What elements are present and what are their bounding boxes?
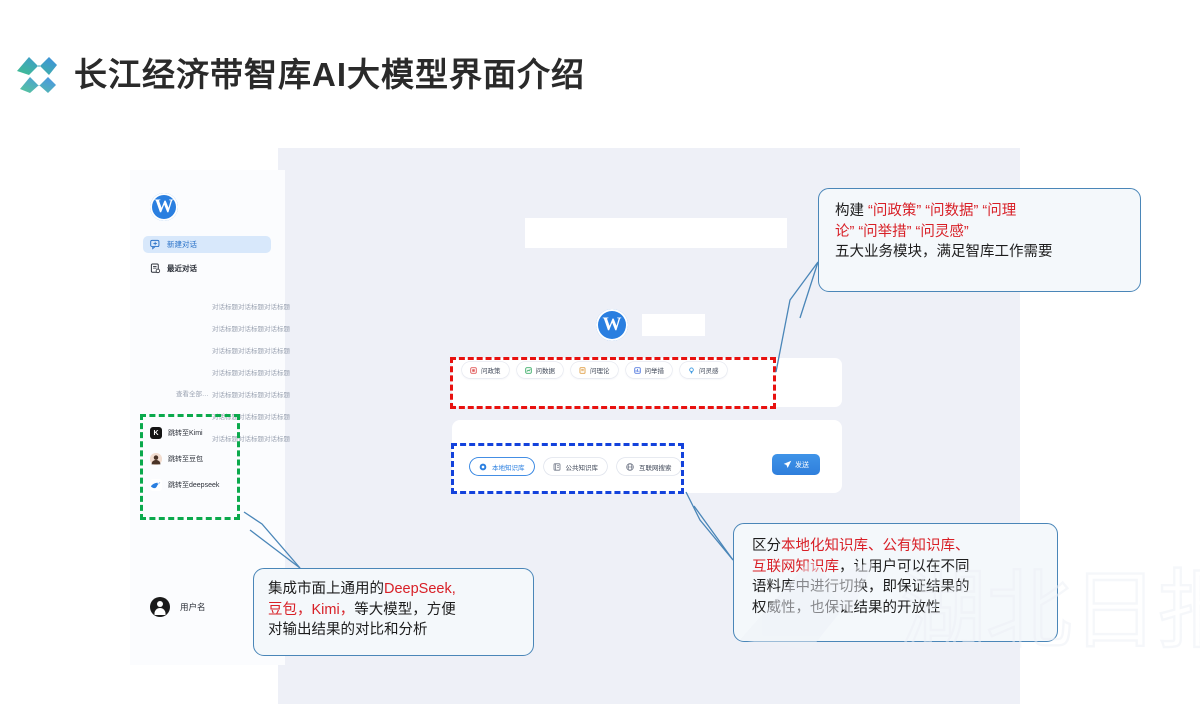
sidebar-item-new-chat[interactable]: 新建对话 (143, 236, 271, 253)
sidebar-logo: W (150, 193, 178, 221)
sidebar-view-all-link[interactable]: 查看全部… (176, 388, 209, 398)
callout-line: 豆包，Kimi，等大模型，方便 (268, 600, 521, 621)
highlight-box-knowledge-chips (451, 443, 684, 494)
sidebar-new-chat-label: 新建对话 (167, 239, 197, 250)
send-button-label: 发送 (795, 460, 809, 470)
slide-header: 长江经济带智库AI大模型界面介绍 (14, 48, 585, 96)
callout-line: 构建 “问政策” “问数据” “问理 (835, 201, 1126, 222)
callout-line: 区分本地化知识库、公有知识库、 (752, 536, 1043, 557)
callout-line: 论” “问举措” “问灵感” (835, 222, 1126, 243)
sidebar-item-recent-chat[interactable]: 最近对话 (143, 260, 271, 277)
callout-line: 互联网知识库，让用户可以在不同 (752, 557, 1043, 578)
new-chat-icon (150, 239, 161, 250)
sidebar-user-profile[interactable]: 用户名 (150, 597, 206, 617)
callout-line: 对输出结果的对比和分析 (268, 620, 521, 641)
highlight-box-module-chips (450, 357, 776, 409)
mock-hero: W (596, 309, 705, 341)
history-icon (150, 263, 161, 274)
send-button[interactable]: 发送 (772, 454, 820, 475)
callout-line: 集成市面上通用的DeepSeek, (268, 579, 521, 600)
list-item[interactable]: 对话标题对话标题对话标题 (212, 341, 312, 363)
list-item[interactable]: 对话标题对话标题对话标题 (212, 297, 312, 319)
user-avatar-icon (150, 597, 170, 617)
hero-title-placeholder (642, 314, 705, 336)
highlight-box-model-jumps (140, 414, 240, 520)
sidebar-recent-chat-label: 最近对话 (167, 263, 197, 274)
page-title: 长江经济带智库AI大模型界面介绍 (74, 48, 585, 96)
mock-topbar-placeholder (525, 218, 787, 248)
callout-models: 集成市面上通用的DeepSeek,豆包，Kimi，等大模型，方便对输出结果的对比… (253, 568, 534, 656)
callout-knowledge-bases: 区分本地化知识库、公有知识库、互联网知识库，让用户可以在不同语料库中进行切换，即… (733, 523, 1058, 642)
callout-modules: 构建 “问政策” “问数据” “问理论” “问举措” “问灵感”五大业务模块，满… (818, 188, 1141, 292)
sidebar-user-name: 用户名 (180, 601, 206, 613)
callout-line: 语料库中进行切换，即保证结果的 (752, 577, 1043, 598)
sidebar-logo-letter: W (150, 193, 178, 221)
callout-line: 权威性，也保证结果的开放性 (752, 598, 1043, 619)
double-chevron-logo-icon (14, 49, 60, 95)
list-item[interactable]: 对话标题对话标题对话标题 (212, 319, 312, 341)
hero-logo-icon: W (596, 309, 628, 341)
paper-plane-icon (783, 460, 792, 469)
list-item[interactable]: 对话标题对话标题对话标题 (212, 363, 312, 385)
hero-logo-letter: W (596, 309, 628, 341)
list-item[interactable]: 对话标题对话标题对话标题 (212, 385, 312, 407)
callout-line: 五大业务模块，满足智库工作需要 (835, 242, 1126, 263)
